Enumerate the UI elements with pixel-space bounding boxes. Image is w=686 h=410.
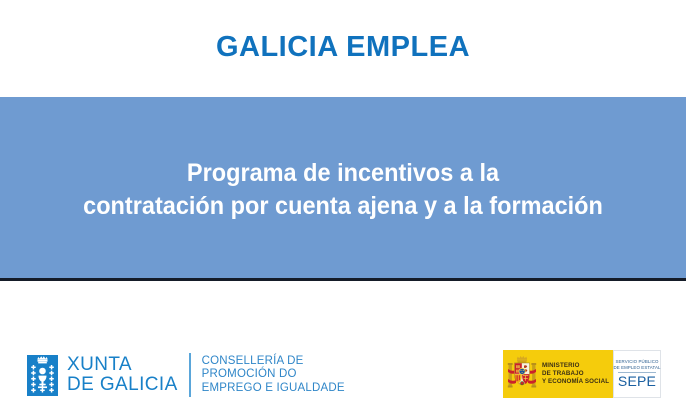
page-title: GALICIA EMPLEA: [216, 31, 470, 64]
ministerio-wordmark: MINISTERIO DE TRABAJO Y ECONOMÍA SOCIAL: [542, 362, 609, 386]
banner-text-block: Programa de incentivos a la contratación…: [21, 157, 666, 223]
sepe-acronym: SEPE: [618, 374, 656, 389]
conselleria-line-2: PROMOCIÓN DO: [202, 368, 345, 382]
conselleria-line-1: CONSELLERÍA DE: [202, 355, 345, 369]
xunta-de-galicia-logo: XUNTA DE GALICIA CONSELLERÍA DE PROMOCIÓ…: [27, 353, 345, 397]
banner-line-2: contratación por cuenta ajena y a la for…: [21, 190, 666, 223]
banner-line-1: Programa de incentivos a la: [21, 157, 666, 190]
sepe-subtitle-line-2: DE EMPLEO ESTATAL: [613, 365, 660, 370]
ministerio-line-3: Y ECONOMÍA SOCIAL: [542, 378, 609, 386]
title-zone: GALICIA EMPLEA: [0, 0, 686, 97]
ministerio-banner: MINISTERIO DE TRABAJO Y ECONOMÍA SOCIAL: [503, 350, 613, 398]
ministerio-line-2: DE TRABAJO: [542, 370, 609, 378]
sepe-logo: SERVICIO PÚBLICO DE EMPLEO ESTATAL SEPE: [613, 350, 661, 398]
conselleria-line-3: EMPREGO E IGUALDADE: [202, 382, 345, 396]
xunta-name-line-1: XUNTA: [67, 355, 178, 375]
footer-logos: XUNTA DE GALICIA CONSELLERÍA DE PROMOCIÓ…: [0, 284, 686, 410]
sepe-subtitle-line-1: SERVICIO PÚBLICO: [613, 359, 660, 364]
xunta-emblem-icon: [27, 355, 58, 396]
sepe-subtitle: SERVICIO PÚBLICO DE EMPLEO ESTATAL: [613, 359, 660, 370]
conselleria-wordmark: CONSELLERÍA DE PROMOCIÓN DO EMPREGO E IG…: [202, 355, 345, 396]
ministerio-sepe-logo: MINISTERIO DE TRABAJO Y ECONOMÍA SOCIAL …: [503, 350, 661, 398]
logo-divider: [189, 353, 191, 397]
spain-coat-of-arms-icon: [507, 355, 537, 393]
xunta-name-line-2: DE GALICIA: [67, 375, 178, 395]
xunta-wordmark: XUNTA DE GALICIA: [67, 355, 178, 395]
program-banner: Programa de incentivos a la contratación…: [0, 97, 686, 281]
ministerio-line-1: MINISTERIO: [542, 362, 609, 370]
